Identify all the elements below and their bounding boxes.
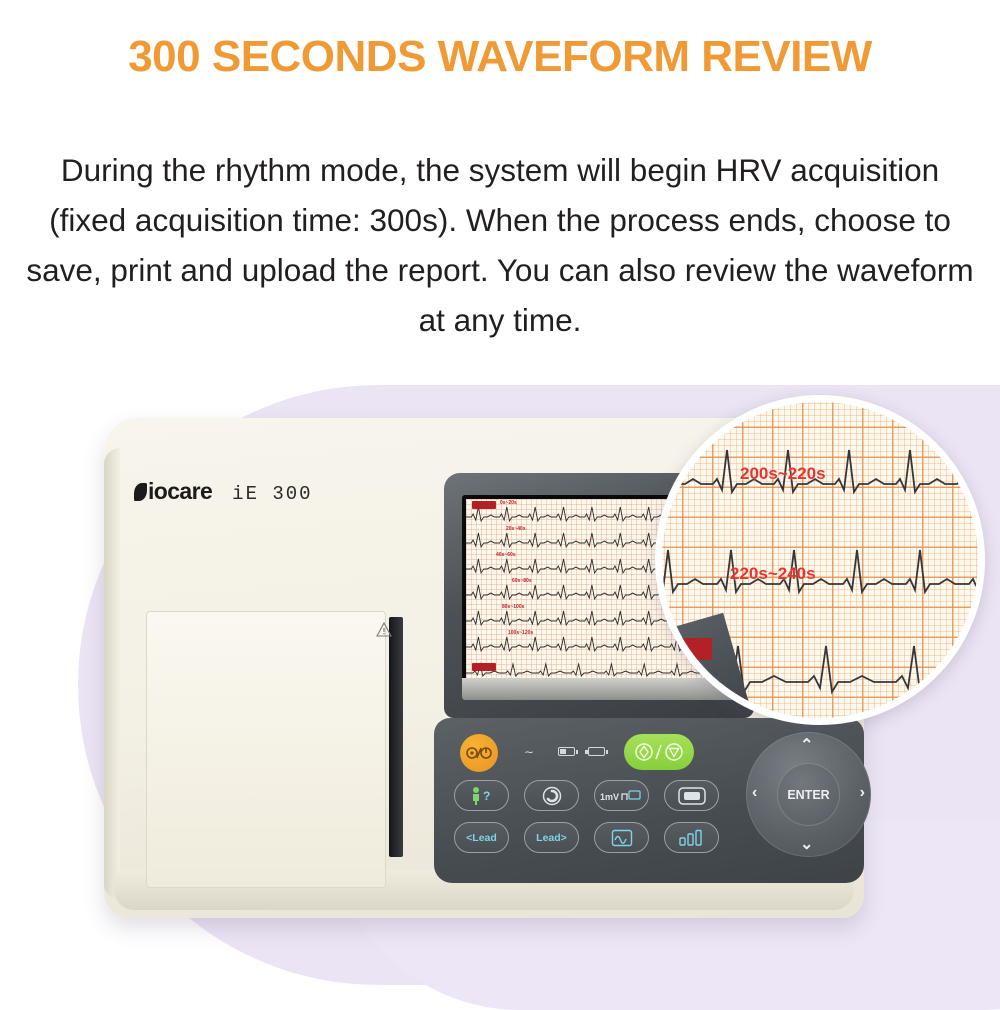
warning-triangle-icon — [376, 622, 392, 637]
nav-right-button[interactable]: › — [860, 784, 865, 802]
calibration-1mv-icon: 1mV — [600, 787, 644, 805]
leaf-logo-icon — [134, 483, 147, 501]
navigation-pad[interactable]: ⌃ ⌄ ‹ › ENTER — [746, 732, 871, 857]
ecg-row-time-label: 60s~80s — [512, 578, 532, 584]
row-red-marker — [472, 501, 496, 509]
paper-slot — [389, 617, 403, 857]
device-model-label: iE 300 — [232, 483, 312, 505]
ecg-row-time-label: 0s~20s — [500, 500, 517, 506]
brand-name-text: iocare — [134, 478, 212, 505]
waveform-filter-icon — [611, 829, 633, 847]
magnified-waveform-view: 200s~220s 220s~240s — [655, 395, 985, 725]
mode-button[interactable] — [524, 780, 579, 811]
battery-charging-indicator-icon — [558, 745, 575, 759]
gain-button[interactable] — [664, 822, 719, 853]
ecg-row-time-label: 80s~100s — [502, 604, 524, 610]
patient-icon: ? — [467, 786, 497, 805]
magnified-ecg-strip — [655, 532, 985, 612]
rhythm-mode-icon — [541, 785, 563, 807]
svg-text:1mV: 1mV — [600, 792, 619, 802]
power-icon — [466, 745, 492, 761]
page-title: 300 SECONDS WAVEFORM REVIEW — [0, 32, 1000, 82]
battery-level-indicator-icon — [588, 745, 605, 759]
power-button[interactable] — [460, 734, 498, 772]
ecg-row-time-label: 40s~60s — [496, 552, 516, 558]
display-screen-icon — [677, 786, 707, 806]
display-button[interactable] — [664, 780, 719, 811]
patient-info-button[interactable]: ? — [454, 780, 509, 811]
magnified-time-label: 200s~220s — [740, 464, 826, 484]
nav-up-button[interactable]: ⌃ — [800, 735, 813, 755]
filter-button[interactable] — [594, 822, 649, 853]
device-left-edge — [104, 448, 120, 898]
control-keypad: ∼ ? — [434, 718, 864, 883]
start-stop-button[interactable] — [624, 734, 694, 770]
start-stop-icon — [633, 742, 685, 762]
svg-text:?: ? — [483, 789, 490, 803]
gain-bars-icon — [678, 829, 706, 847]
magnified-time-label: 220s~240s — [730, 564, 816, 584]
brand-mark: iocare iE 300 — [134, 478, 313, 505]
row-red-marker — [472, 663, 496, 671]
ac-power-indicator-icon: ∼ — [524, 745, 534, 759]
lead-next-button[interactable]: Lead> — [524, 822, 579, 853]
printer-door[interactable] — [146, 611, 386, 888]
nav-down-button[interactable]: ⌄ — [800, 834, 813, 854]
enter-button[interactable]: ENTER — [777, 763, 840, 826]
nav-left-button[interactable]: ‹ — [752, 784, 757, 802]
ecg-row-time-label: 20s~40s — [506, 526, 526, 532]
ecg-row-time-label: 100s~120s — [508, 630, 533, 636]
brand-name-label: iocare — [148, 478, 212, 504]
magnified-red-marker — [670, 638, 712, 660]
calibration-button[interactable]: 1mV — [594, 780, 649, 811]
lead-previous-button[interactable]: <Lead — [454, 822, 509, 853]
description-paragraph: During the rhythm mode, the system will … — [18, 145, 982, 345]
